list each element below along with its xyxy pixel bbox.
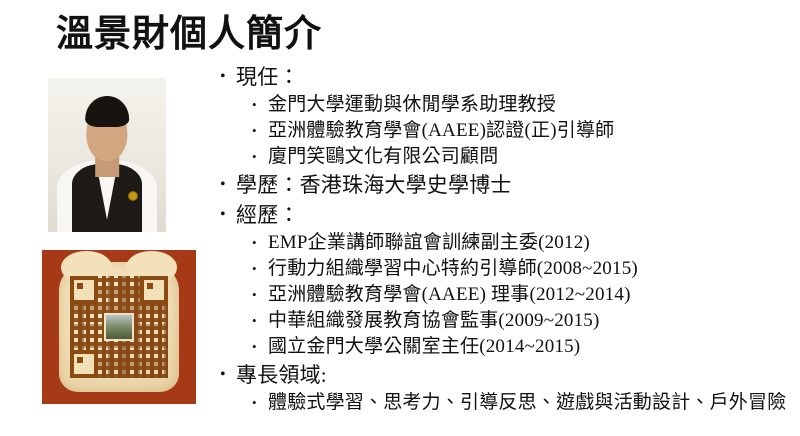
qr-finder-top-right	[140, 276, 168, 304]
list-item: • EMP企業講師聯誼會訓練副主委(2012)	[214, 230, 794, 256]
bullet-marker: •	[252, 118, 268, 144]
list-item-label: 亞洲體驗教育學會(AAEE)認證(正)引導師	[268, 118, 794, 144]
list-item: • 行動力組織學習中心特約引導師(2008~2015)	[214, 256, 794, 282]
list-item-label: 現任：	[236, 62, 794, 92]
bullet-marker: •	[252, 256, 268, 282]
qr-finder-bottom-left	[70, 350, 98, 378]
list-item-label: 中華組織發展教育協會監事(2009~2015)	[268, 308, 794, 334]
list-item: • 體驗式學習、思考力、引導反思、遊戲與活動設計、戶外冒險	[214, 390, 794, 416]
bullet-marker: •	[220, 62, 236, 92]
bullet-marker: •	[220, 200, 236, 230]
bullet-marker: •	[252, 308, 268, 334]
list-item: • 中華組織發展教育協會監事(2009~2015)	[214, 308, 794, 334]
list-item-label: 國立金門大學公關室主任(2014~2015)	[268, 334, 794, 360]
list-item: • 國立金門大學公關室主任(2014~2015)	[214, 334, 794, 360]
list-item: • 金門大學運動與休閒學系助理教授	[214, 92, 794, 118]
list-item-label: 經歷：	[236, 200, 794, 230]
bullet-marker: •	[220, 360, 236, 390]
bullet-marker: •	[252, 230, 268, 256]
list-item-label: 行動力組織學習中心特約引導師(2008~2015)	[268, 256, 794, 282]
qr-code-bread-image	[42, 250, 196, 404]
page-title: 溫景財個人簡介	[56, 11, 322, 57]
portrait-photo	[48, 78, 166, 232]
bullet-marker: •	[220, 170, 236, 200]
list-item-label: 學歷：香港珠海大學史學博士	[236, 170, 794, 200]
bullet-marker: •	[252, 282, 268, 308]
bullet-marker: •	[252, 390, 268, 416]
qr-center-photo	[106, 315, 132, 339]
bullet-marker: •	[252, 334, 268, 360]
list-item-label: 專長領域:	[236, 360, 794, 390]
profile-bullet-list: • 現任： • 金門大學運動與休閒學系助理教授 • 亞洲體驗教育學會(AAEE)…	[214, 62, 794, 416]
bullet-marker: •	[252, 144, 268, 170]
list-item: • 經歷：	[214, 200, 794, 230]
list-item: • 專長領域:	[214, 360, 794, 390]
bullet-marker: •	[252, 92, 268, 118]
list-item-label: 金門大學運動與休閒學系助理教授	[268, 92, 794, 118]
qr-finder-top-left	[70, 276, 98, 304]
list-item-label: 廈門笑鷗文化有限公司顧問	[268, 144, 794, 170]
list-item-label: 體驗式學習、思考力、引導反思、遊戲與活動設計、戶外冒險	[268, 390, 794, 416]
list-item-label: 亞洲體驗教育學會(AAEE) 理事(2012~2014)	[268, 282, 794, 308]
presentation-slide: 溫景財個人簡介 • 現任： • 金門大學運動與休閒學系助理教授 • 亞洲體驗教育…	[0, 0, 800, 436]
list-item-label: EMP企業講師聯誼會訓練副主委(2012)	[268, 230, 794, 256]
list-item: • 現任：	[214, 62, 794, 92]
list-item: • 廈門笑鷗文化有限公司顧問	[214, 144, 794, 170]
list-item: • 學歷：香港珠海大學史學博士	[214, 170, 794, 200]
list-item: • 亞洲體驗教育學會(AAEE)認證(正)引導師	[214, 118, 794, 144]
list-item: • 亞洲體驗教育學會(AAEE) 理事(2012~2014)	[214, 282, 794, 308]
